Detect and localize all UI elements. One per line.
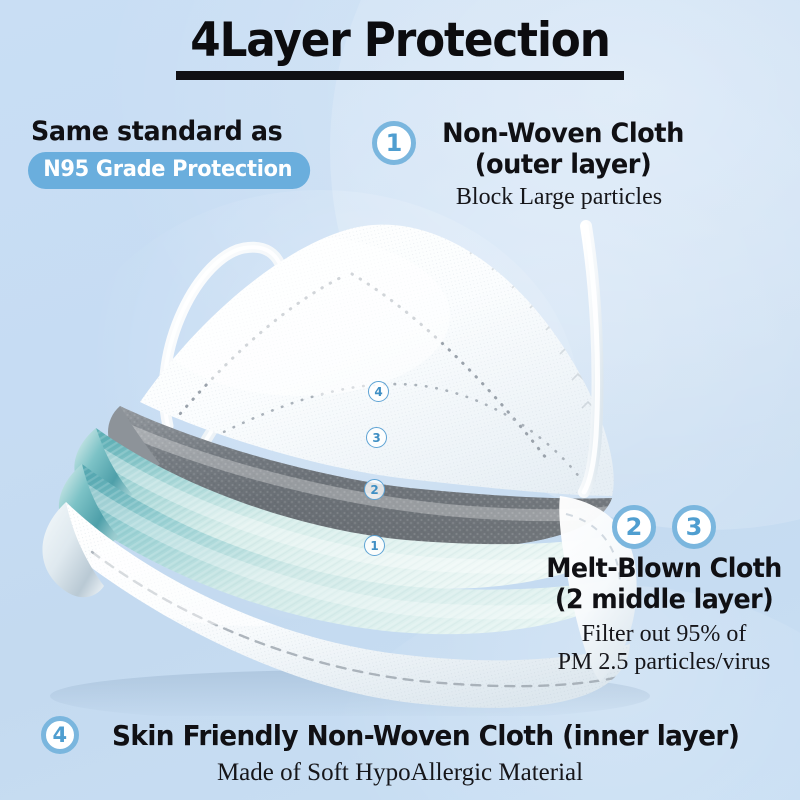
- callout-outer-layer: 1 Non-Woven Cloth (outer layer) Block La…: [372, 118, 702, 211]
- callout-2-3-heading: Melt-Blown Cloth (2 middle layer): [538, 553, 790, 616]
- callout-2-3-subtitle-line2: PM 2.5 particles/virus: [530, 648, 798, 677]
- callout-number-4: 4: [41, 716, 79, 754]
- callout-middle-layers: 2 3 Melt-Blown Cloth (2 middle layer) Fi…: [530, 505, 798, 677]
- callout-1-subtitle: Block Large particles: [416, 184, 702, 211]
- callout-4-subtitle: Made of Soft HypoAllergic Material: [0, 759, 800, 787]
- callout-number-1: 1: [372, 121, 416, 165]
- callout-number-3: 3: [672, 505, 716, 549]
- n95-grade-badge: N95 Grade Protection: [28, 152, 310, 189]
- mask-layer-chip-4: 4: [368, 381, 389, 402]
- callout-1-heading-line2: (outer layer): [431, 149, 695, 180]
- mask-layer-chip-2: 2: [364, 479, 385, 500]
- callout-4-heading: Skin Friendly Non-Woven Cloth (inner lay…: [112, 719, 739, 752]
- mask-layer-chip-3: 3: [366, 427, 387, 448]
- mask-layer-chip-1: 1: [364, 535, 385, 556]
- callout-2-3-subtitle: Filter out 95% of PM 2.5 particles/virus: [530, 620, 798, 678]
- callout-1-heading: Non-Woven Cloth (outer layer): [431, 118, 695, 181]
- callout-2-3-subtitle-line1: Filter out 95% of: [530, 620, 798, 649]
- callout-2-3-numbers: 2 3: [530, 505, 798, 549]
- page-title: 4Layer Protection: [28, 16, 772, 65]
- callout-2-3-heading-line1: Melt-Blown Cloth: [538, 553, 790, 584]
- callout-inner-layer: 4 Skin Friendly Non-Woven Cloth (inner l…: [0, 716, 800, 787]
- callout-number-2: 2: [612, 505, 656, 549]
- callout-2-3-heading-line2: (2 middle layer): [538, 584, 790, 615]
- callout-1-heading-line1: Non-Woven Cloth: [431, 118, 695, 149]
- title-underline: [176, 71, 624, 80]
- standard-label: Same standard as: [31, 116, 282, 147]
- infographic-poster: 4 3 2 1 4Layer Protection Same standard …: [0, 0, 800, 800]
